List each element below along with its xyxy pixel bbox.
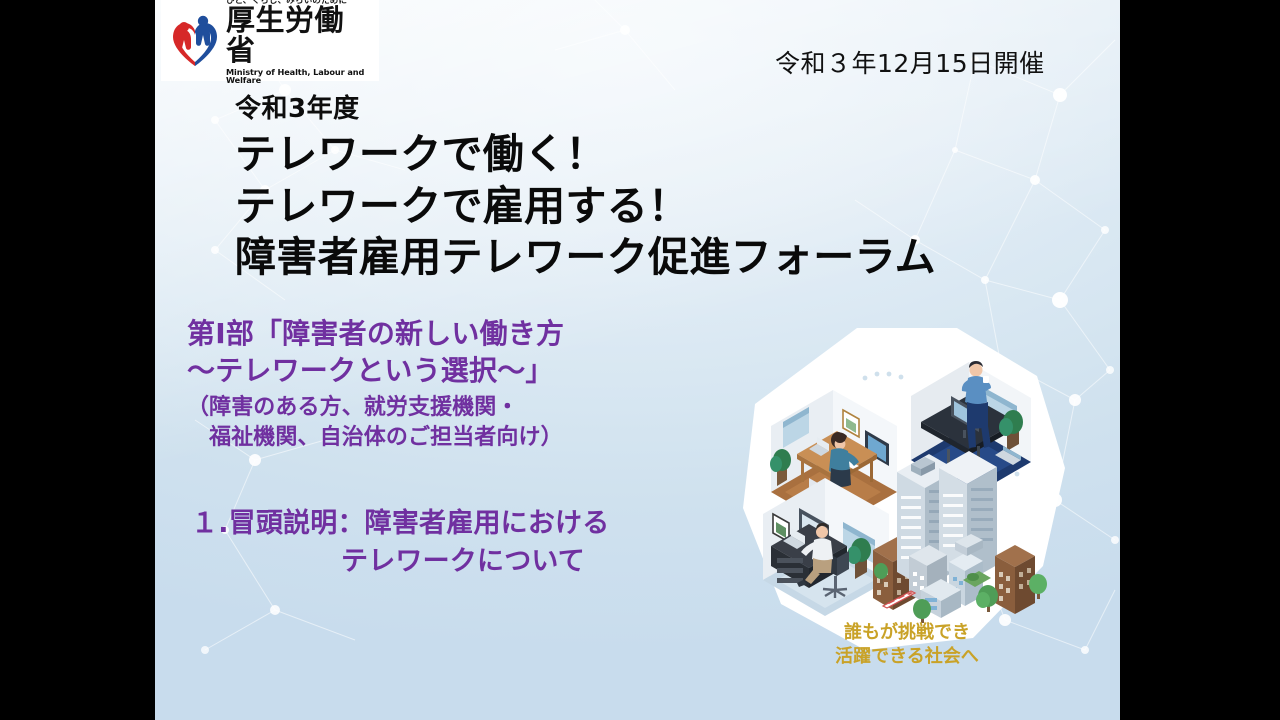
section-one-line-1: １.冒頭説明：障害者雇用における xyxy=(191,505,771,543)
part-one-heading-line-2: ～テレワークという選択～」 xyxy=(187,352,747,389)
mhlw-logo-text: ひと、くらし、みらいのために 厚生労働省 Ministry of Health,… xyxy=(226,0,373,84)
mhlw-logo-box: ひと、くらし、みらいのために 厚生労働省 Ministry of Health,… xyxy=(161,0,379,81)
illustration-caption-line-2: 活躍できる社会へ xyxy=(835,645,979,667)
mhlw-name-en: Ministry of Health, Labour and Welfare xyxy=(226,68,373,84)
part-one-block: 第Ⅰ部「障害者の新しい働き方 ～テレワークという選択～」 （障害のある方、就労支… xyxy=(187,315,747,453)
part-one-audience-line-1: （障害のある方、就労支援機関・ xyxy=(187,393,747,423)
illustration-caption-line-1: 誰もが挑戦でき xyxy=(844,621,970,643)
main-title-line-1: テレワークで働く！ xyxy=(235,129,1115,181)
main-title: テレワークで働く！ テレワークで雇用する！ 障害者雇用テレワーク促進フォーラム xyxy=(235,129,1115,284)
title-block: 令和3年度 テレワークで働く！ テレワークで雇用する！ 障害者雇用テレワーク促進… xyxy=(235,88,1115,284)
screenshot-stage: ひと、くらし、みらいのために 厚生労働省 Ministry of Health,… xyxy=(0,0,1280,720)
section-one-block: １.冒頭説明：障害者雇用における テレワークについて xyxy=(191,505,771,582)
letterbox-left xyxy=(0,0,155,720)
part-one-audience: （障害のある方、就労支援機関・ 福祉機関、自治体のご担当者向け） xyxy=(187,393,747,452)
event-date: 令和３年12月15日開催 xyxy=(775,44,1045,80)
fiscal-year-label: 令和3年度 xyxy=(235,88,1115,125)
part-one-heading-line-1: 第Ⅰ部「障害者の新しい働き方 xyxy=(187,315,747,352)
main-title-line-3: 障害者雇用テレワーク促進フォーラム xyxy=(235,232,1115,284)
mhlw-logo-mark-icon xyxy=(169,13,221,69)
part-one-audience-line-2: 福祉機関、自治体のご担当者向け） xyxy=(187,423,747,453)
presentation-slide: ひと、くらし、みらいのために 厚生労働省 Ministry of Health,… xyxy=(155,0,1120,720)
section-one-line-2: テレワークについて xyxy=(191,543,771,581)
main-title-line-2: テレワークで雇用する！ xyxy=(235,181,1115,233)
part-one-heading: 第Ⅰ部「障害者の新しい働き方 ～テレワークという選択～」 xyxy=(187,315,747,389)
telework-society-illustration: 誰もが挑戦でき 活躍できる社会へ xyxy=(725,318,1089,680)
mhlw-name-ja: 厚生労働省 xyxy=(226,6,373,65)
letterbox-right xyxy=(1120,0,1280,720)
